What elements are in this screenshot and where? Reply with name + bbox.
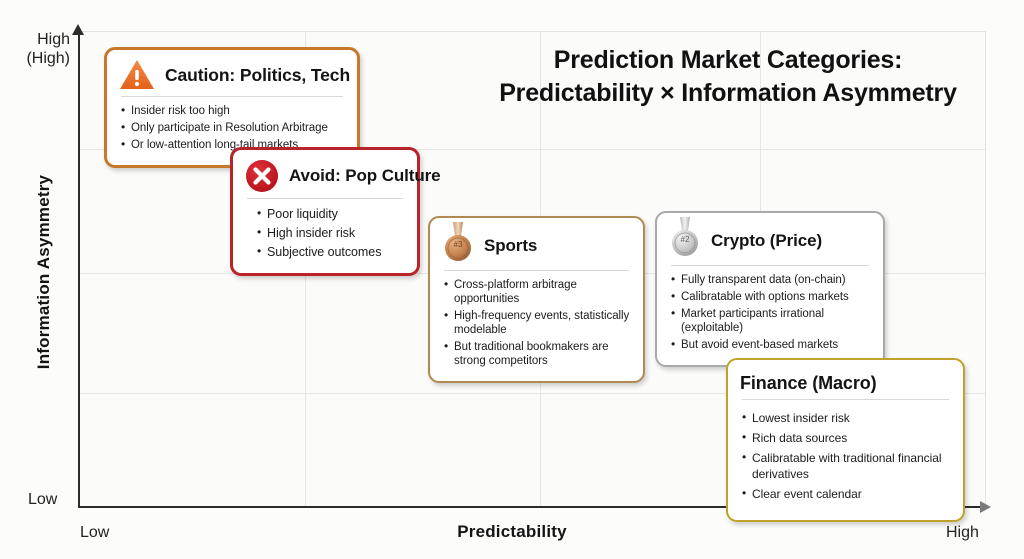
list-item: Calibratable with traditional financial … [752,450,951,482]
list-item: Cross-platform arbitrage opportunities [454,278,631,306]
list-item: Only participate in Resolution Arbitrage [131,121,345,135]
list-item: Calibratable with options markets [681,290,871,304]
chart-title: Prediction Market Categories: Predictabi… [458,44,998,110]
list-item: But avoid event-based markets [681,338,871,352]
list-item: Insider risk too high [131,104,345,118]
list-item: Lowest insider risk [752,410,951,426]
card-title: Avoid: Pop Culture [289,166,441,186]
divider [742,399,949,400]
card-title: Finance (Macro) [740,373,877,394]
card-bullet-list: Lowest insider risk Rich data sources Ca… [740,410,951,502]
y-axis-line [78,31,80,508]
card-header: Avoid: Pop Culture [245,159,405,198]
x-axis-arrow-icon [980,501,991,513]
divider [247,198,403,199]
card-bullet-list: Insider risk too high Only participate i… [119,104,345,152]
svg-text:ㅤ: ㅤ [456,250,461,256]
card-title: Sports [484,236,537,256]
card-title: Caution: Politics, Tech [165,65,350,86]
chart-canvas: High (High) Low Low High Predictability … [0,0,1024,559]
list-item: Clear event calendar [752,486,951,502]
card-header: #2 Crypto (Price) [669,222,871,265]
card-crypto-price[interactable]: #2 Crypto (Price) Fully transparent data… [655,211,885,367]
list-item: High insider risk [267,225,405,242]
list-item: But traditional bookmakers are strong co… [454,340,631,368]
y-axis-arrow-icon [72,24,84,35]
y-axis-tick-high-line1: High [24,30,70,49]
card-bullet-list: Poor liquidity High insider risk Subject… [245,206,405,261]
card-header: #3 ㅤ Sports [442,227,631,270]
card-finance-macro[interactable]: Finance (Macro) Lowest insider risk Rich… [726,358,965,522]
divider [671,265,869,266]
x-circle-icon [245,159,279,193]
medal-rank-label: #3 [454,240,463,249]
y-axis-tick-low: Low [28,491,57,509]
warning-triangle-icon [119,59,155,91]
silver-medal-icon: #2 [669,216,701,260]
divider [121,96,343,97]
divider [444,270,629,271]
medal-rank-label: #2 [681,235,690,244]
card-sports[interactable]: #3 ㅤ Sports Cross-platform arbitrage opp… [428,216,645,383]
card-bullet-list: Fully transparent data (on-chain) Calibr… [669,273,871,352]
card-title: Crypto (Price) [711,231,822,251]
bronze-medal-icon: #3 ㅤ [442,221,474,265]
card-header: Caution: Politics, Tech [119,59,345,96]
card-avoid-pop-culture[interactable]: Avoid: Pop Culture Poor liquidity High i… [230,147,420,276]
list-item: Fully transparent data (on-chain) [681,273,871,287]
y-axis-title: Information Asymmetry [34,122,54,422]
list-item: High-frequency events, statistically mod… [454,309,631,337]
chart-title-line1: Prediction Market Categories: [458,44,998,77]
list-item: Poor liquidity [267,206,405,223]
list-item: Rich data sources [752,430,951,446]
chart-title-line2: Predictability × Information Asymmetry [458,77,998,110]
list-item: Market participants irrational (exploita… [681,307,871,335]
list-item: Subjective outcomes [267,244,405,261]
card-header: Finance (Macro) [740,373,951,399]
y-axis-tick-high-line2: (High) [24,49,70,68]
card-bullet-list: Cross-platform arbitrage opportunities H… [442,278,631,368]
x-axis-title: Predictability [0,522,1024,542]
y-axis-tick-high: High (High) [24,30,70,68]
